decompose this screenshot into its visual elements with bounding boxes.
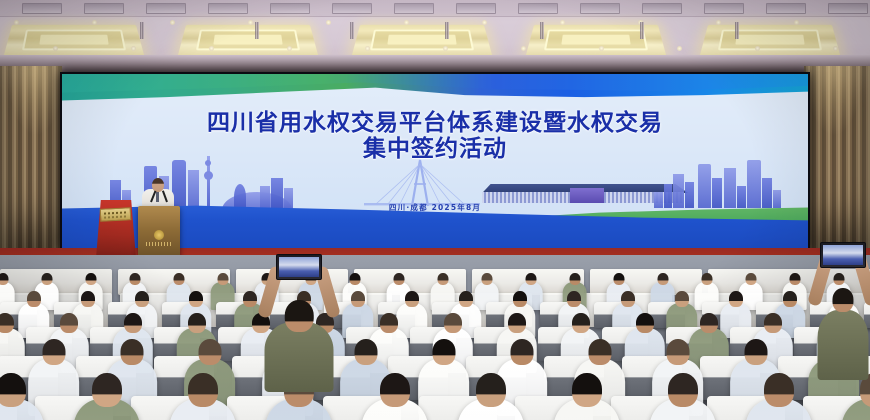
ceiling-downlight	[209, 46, 214, 51]
photographer-right	[826, 288, 860, 378]
ceiling-vent	[208, 3, 248, 14]
person-head	[129, 273, 140, 285]
person-head	[60, 313, 78, 333]
audience-person	[72, 373, 141, 420]
person-head	[85, 273, 96, 285]
person-head	[380, 313, 398, 333]
person-head	[380, 373, 410, 407]
led-title-line-1: 四川省用水权交易平台体系建设暨水权交易	[62, 110, 808, 136]
podium-plaque	[100, 207, 132, 222]
ceiling-downlight	[794, 20, 799, 25]
person-head	[675, 291, 689, 307]
person-head	[0, 373, 26, 407]
ceiling-slot-vent	[350, 22, 354, 39]
ceiling-vent	[456, 3, 496, 14]
ceiling-slot-vent	[140, 22, 144, 39]
person-head	[764, 373, 794, 407]
person-head	[783, 291, 797, 307]
person-head	[833, 273, 844, 285]
wall-top-band	[0, 55, 870, 73]
podium-inscription	[146, 242, 172, 246]
ceiling-vent	[704, 3, 744, 14]
ceiling-downlight	[365, 46, 370, 51]
led-title: 四川省用水权交易平台体系建设暨水权交易 集中签约活动	[62, 110, 808, 163]
audience-person	[648, 373, 717, 420]
person-head	[572, 373, 602, 407]
person-head	[666, 339, 689, 365]
person-head	[657, 273, 668, 285]
ceiling-downlight	[53, 46, 58, 51]
person-head	[613, 273, 624, 285]
person-head	[700, 313, 718, 333]
person-head	[198, 339, 221, 365]
person-head	[243, 291, 257, 307]
person-head	[476, 373, 506, 407]
person-head	[567, 291, 581, 307]
person-head	[745, 273, 756, 285]
person-head	[173, 273, 184, 285]
person-head	[351, 291, 365, 307]
smartphone	[820, 242, 866, 268]
photographer-center	[276, 300, 322, 390]
photographer-torso	[265, 322, 334, 392]
ceiling-downlight	[833, 46, 838, 51]
person-head	[668, 373, 698, 407]
podium-emblem-icon	[154, 230, 164, 240]
person-head	[510, 339, 533, 365]
person-head	[588, 339, 611, 365]
person-head	[188, 373, 218, 407]
audience-person	[456, 373, 525, 420]
ceiling-downlight	[404, 20, 409, 25]
ceiling-downlight	[131, 46, 136, 51]
ceiling-vent	[394, 3, 434, 14]
person-head	[349, 273, 360, 285]
person-head	[354, 339, 377, 365]
person-head	[729, 291, 743, 307]
person-head	[124, 313, 142, 333]
person-head	[444, 313, 462, 333]
person-head	[92, 373, 122, 407]
ceiling-downlight	[482, 20, 487, 25]
person-head	[393, 273, 404, 285]
person-head	[459, 291, 473, 307]
person-head	[481, 273, 492, 285]
ceiling-slot-vent	[255, 22, 259, 39]
person-head	[513, 291, 527, 307]
smartphone-screen	[823, 245, 863, 265]
ceiling-vent	[518, 3, 558, 14]
ceiling-downlight	[287, 46, 292, 51]
person-head	[81, 291, 95, 307]
ceiling-vent	[332, 3, 372, 14]
ceiling-downlight	[326, 20, 331, 25]
person-head	[27, 291, 41, 307]
photographer-torso	[818, 310, 869, 380]
audience-person	[552, 373, 621, 420]
audience-person	[0, 373, 45, 420]
podium	[138, 206, 180, 258]
ceiling	[0, 0, 870, 62]
person-head	[432, 339, 455, 365]
audience-person	[744, 373, 813, 420]
ceiling-downlight	[677, 46, 682, 51]
ceiling-slot-vent	[540, 22, 544, 39]
person-head	[621, 291, 635, 307]
person-head	[525, 273, 536, 285]
person-head	[789, 273, 800, 285]
ceiling-vent	[84, 3, 124, 14]
conference-hall-photo: 四川省用水权交易平台体系建设暨水权交易 集中签约活动 四川·成都 2025年8月	[0, 0, 870, 420]
person-head	[405, 291, 419, 307]
photographer-head	[832, 288, 853, 312]
person-head	[217, 273, 228, 285]
person-head	[42, 339, 65, 365]
person-head	[0, 313, 14, 333]
ceiling-slot-vent	[735, 22, 739, 39]
ceiling-coffer-light	[525, 25, 666, 57]
person-head	[569, 273, 580, 285]
person-head	[135, 291, 149, 307]
ceiling-downlight	[170, 20, 175, 25]
ceiling-slot-vent	[445, 22, 449, 39]
ceiling-downlight	[443, 46, 448, 51]
wall-curtain-right	[804, 66, 870, 264]
ceiling-downlight	[92, 20, 97, 25]
ceiling-downlight	[521, 46, 526, 51]
ceiling-coffer-light	[699, 25, 840, 57]
wall-curtain-left	[0, 66, 62, 264]
person-head	[120, 339, 143, 365]
smartphone-screen	[279, 257, 319, 277]
led-title-line-2: 集中签约活动	[62, 136, 808, 162]
photographer-head	[285, 300, 314, 332]
audience-person	[360, 373, 429, 420]
ceiling-vent	[642, 3, 682, 14]
ceiling-downlight	[599, 46, 604, 51]
person-head	[636, 313, 654, 333]
graphic-city-skyline-right	[654, 158, 782, 208]
ceiling-vent	[828, 3, 868, 14]
person-head	[764, 313, 782, 333]
person-head	[437, 273, 448, 285]
person-head	[188, 313, 206, 333]
ceiling-vent	[580, 3, 620, 14]
ceiling-downlight	[755, 46, 760, 51]
ceiling-downlight	[560, 20, 565, 25]
audience-person	[840, 373, 870, 420]
person-head	[744, 339, 767, 365]
ceiling-vent	[766, 3, 806, 14]
person-head	[189, 291, 203, 307]
person-head	[508, 313, 526, 333]
ceiling-downlight	[716, 20, 721, 25]
ceiling-vent	[270, 3, 310, 14]
audience-person	[168, 373, 237, 420]
person-head	[701, 273, 712, 285]
audience-area	[0, 255, 870, 420]
ceiling-slot-vent	[640, 22, 644, 39]
ceiling-downlight	[14, 20, 19, 25]
ceiling-downlight	[248, 20, 253, 25]
ceiling-coffer-light	[3, 25, 144, 57]
ceiling-vent	[146, 3, 186, 14]
ceiling-coffer-light	[177, 25, 318, 57]
person-head	[572, 313, 590, 333]
smartphone	[276, 254, 322, 280]
ceiling-coffer-light	[351, 25, 492, 57]
ceiling-vent	[22, 3, 62, 14]
person-head	[41, 273, 52, 285]
